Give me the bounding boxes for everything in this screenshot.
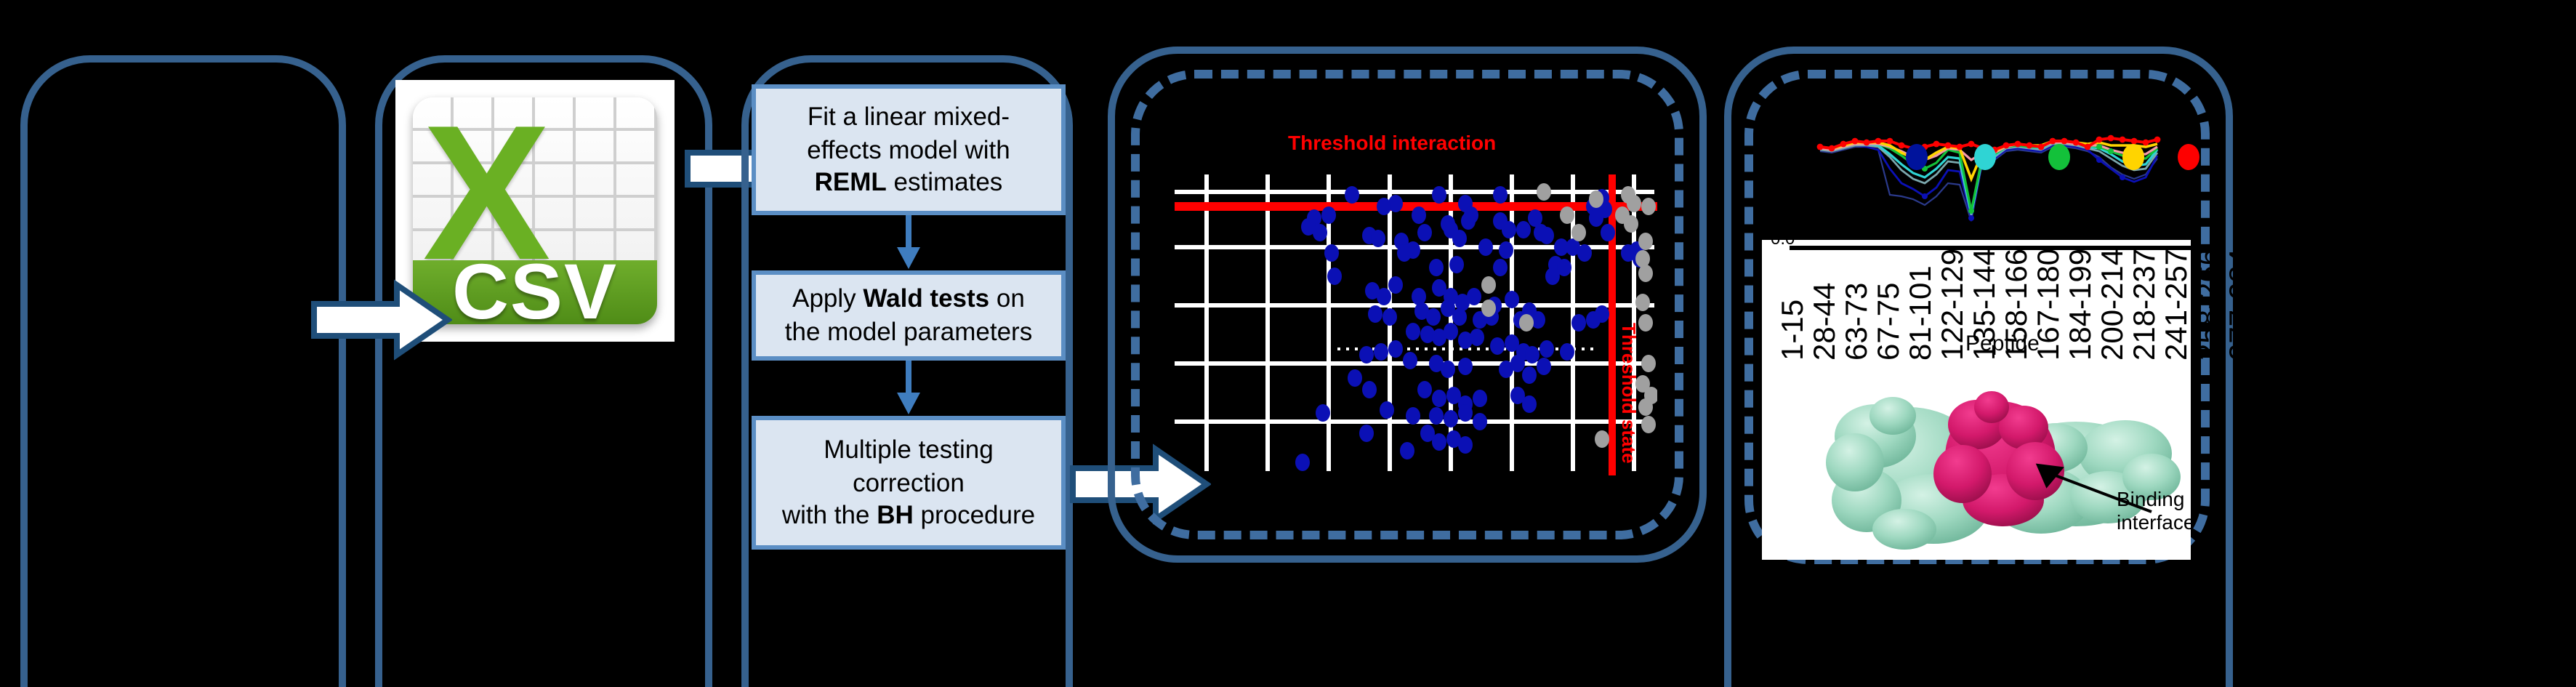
tick-label-10: 200-214 <box>2096 249 2131 361</box>
csv-x-letter: X <box>422 102 535 227</box>
arrow-into-csv <box>310 279 452 361</box>
peptide-chart-canvas <box>1791 131 2227 240</box>
tick-label-14: 277-284 <box>2224 249 2259 361</box>
threshold-state-label: Threshold state <box>1618 323 1640 464</box>
tick-label-11: 218-237 <box>2128 249 2163 361</box>
wald-line2: the model parameters <box>785 317 1032 346</box>
series-s4-markers <box>1922 144 2114 214</box>
wald-tests-term: Wald tests <box>863 284 989 313</box>
tick-label-1: 28-44 <box>1808 283 1843 361</box>
tick-label-3: 67-75 <box>1872 283 1907 361</box>
arrow-wald-to-bh <box>890 361 927 416</box>
binding-interface-annotation: Binding interface <box>2117 487 2194 534</box>
legend-dot-5 <box>2178 144 2199 170</box>
tick-label-9: 184-199 <box>2064 249 2099 361</box>
panel-1-empty[interactable] <box>20 55 346 687</box>
series-s7-markers <box>1922 157 2125 221</box>
csv-format-label: CSV <box>452 247 618 324</box>
tick-label-12: 241-257 <box>2160 249 2195 361</box>
fit-model-reml: REML <box>815 168 887 197</box>
bh-line2: correction <box>853 467 965 497</box>
threshold-scatter-plot[interactable]: Threshold interaction <box>1163 134 1657 475</box>
wald-tests-text: Apply Wald tests on the model parameters <box>785 283 1032 349</box>
wald-tests-box[interactable]: Apply Wald tests on the model parameters <box>752 270 1066 361</box>
tick-label-4: 81-101 <box>1904 265 1939 361</box>
tick-label-0: 1-15 <box>1776 300 1811 361</box>
scatter-points-significant <box>1295 186 1647 471</box>
legend-dot-4 <box>2122 144 2144 170</box>
wald-line1-post: on <box>989 284 1025 313</box>
arrow-fit-to-wald <box>890 215 927 270</box>
fit-model-box[interactable]: Fit a linear mixed- effects model with R… <box>752 84 1066 215</box>
tick-label-13: 258-266 <box>2192 249 2227 361</box>
legend-dot-2 <box>1974 144 1996 170</box>
scatter-canvas <box>1163 134 1657 475</box>
tick-label-2: 63-73 <box>1840 283 1875 361</box>
multiple-testing-box[interactable]: Multiple testing correction with the BH … <box>752 416 1066 550</box>
fit-model-text: Fit a linear mixed- effects model with R… <box>807 100 1010 200</box>
fit-model-line3-rest: estimates <box>887 168 1003 197</box>
flowchart-canvas: X CSV Fit a linear mixed- effects model … <box>0 0 2576 687</box>
wald-line1-pre: Apply <box>792 284 863 313</box>
bh-line3-post: procedure <box>914 501 1035 530</box>
legend-dot-3 <box>2048 144 2070 170</box>
fit-model-line2: effects model with <box>807 134 1010 164</box>
bh-line1: Multiple testing <box>824 435 993 464</box>
x-axis-label: Peptide <box>1965 332 2040 356</box>
multiple-testing-text: Multiple testing correction with the BH … <box>782 433 1035 533</box>
legend-dot-1 <box>1906 144 1928 170</box>
peptide-line-chart[interactable] <box>1791 131 2227 240</box>
fit-model-line1: Fit a linear mixed- <box>808 102 1010 131</box>
bh-term: BH <box>877 501 914 530</box>
bh-line3-pre: with the <box>782 501 877 530</box>
